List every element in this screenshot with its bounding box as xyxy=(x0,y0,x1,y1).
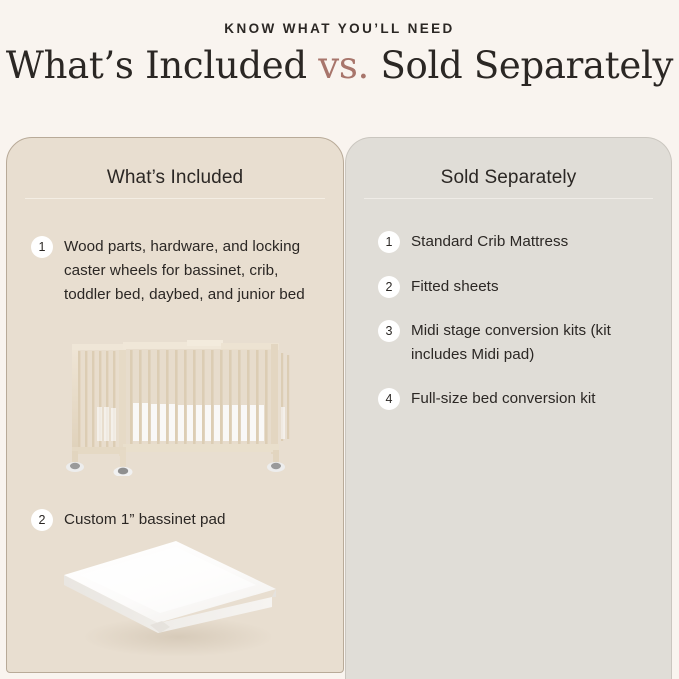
list-item-badge: 4 xyxy=(378,388,400,410)
headline-vs-accent: vs. xyxy=(318,44,369,87)
product-info-graphic: KNOW WHAT YOU’LL NEED What’s Included vs… xyxy=(0,0,679,679)
list-item: 1 Wood parts, hardware, and locking cast… xyxy=(31,235,319,307)
list-item: 4 Full-size bed conversion kit xyxy=(378,387,651,411)
included-list: 1 Wood parts, hardware, and locking cast… xyxy=(31,235,319,327)
comparison-panels: What’s Included 1 Wood parts, hardware, … xyxy=(0,137,679,679)
list-item-badge: 3 xyxy=(378,320,400,342)
list-item: 1 Standard Crib Mattress xyxy=(378,230,651,254)
panel-right-divider xyxy=(364,198,653,199)
list-item-badge: 1 xyxy=(378,231,400,253)
crib-illustration xyxy=(57,331,293,476)
list-item: 2 Fitted sheets xyxy=(378,275,651,299)
list-item-label: Custom 1” bassinet pad xyxy=(64,508,226,532)
list-item-badge: 1 xyxy=(31,236,53,258)
page-title: What’s Included vs. Sold Separately xyxy=(0,44,679,87)
list-item-label: Midi stage conversion kits (kit includes… xyxy=(411,319,651,366)
bassinet-pad-illustration xyxy=(50,533,300,668)
list-item-badge: 2 xyxy=(31,509,53,531)
eyebrow-text: KNOW WHAT YOU’LL NEED xyxy=(0,21,679,36)
list-item-label: Full-size bed conversion kit xyxy=(411,387,596,411)
headline-part-one: What’s Included xyxy=(6,44,318,87)
panel-left-title: What’s Included xyxy=(7,167,343,189)
list-item-badge: 2 xyxy=(378,276,400,298)
crib-image xyxy=(57,331,293,476)
bassinet-pad-image xyxy=(50,533,300,668)
headline-part-two: Sold Separately xyxy=(369,44,673,87)
sold-separately-list: 1 Standard Crib Mattress 2 Fitted sheets… xyxy=(378,230,651,432)
panel-right-title: Sold Separately xyxy=(346,167,671,189)
list-item: 3 Midi stage conversion kits (kit includ… xyxy=(378,319,651,366)
list-item: 2 Custom 1” bassinet pad xyxy=(31,508,319,532)
list-item-label: Standard Crib Mattress xyxy=(411,230,568,254)
list-item-label: Wood parts, hardware, and locking caster… xyxy=(64,235,319,307)
panel-left-divider xyxy=(25,198,325,199)
header: KNOW WHAT YOU’LL NEED What’s Included vs… xyxy=(0,0,679,133)
panel-sold-separately: Sold Separately 1 Standard Crib Mattress… xyxy=(345,137,672,679)
list-item-label: Fitted sheets xyxy=(411,275,499,299)
panel-whats-included: What’s Included 1 Wood parts, hardware, … xyxy=(6,137,344,673)
